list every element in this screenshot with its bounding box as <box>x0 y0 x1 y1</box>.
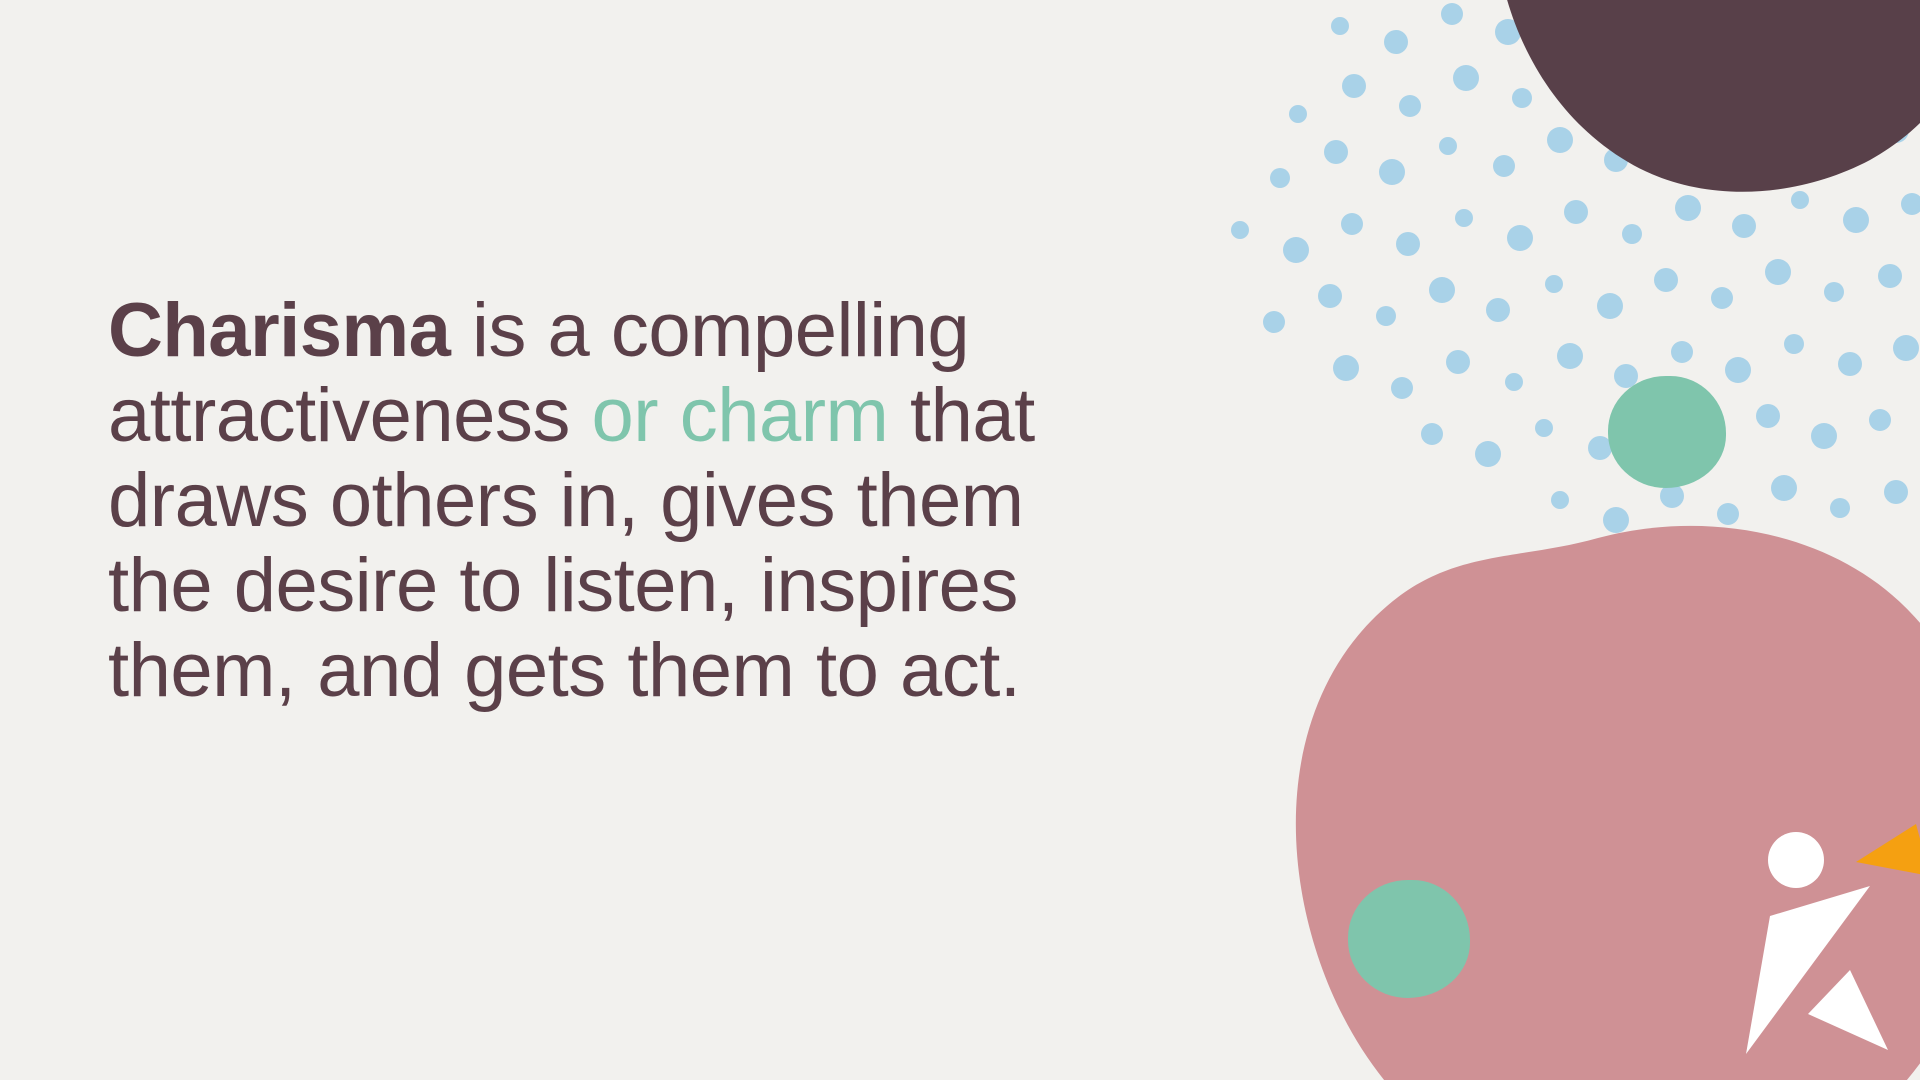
walking-figure-logo-icon <box>1718 818 1920 1080</box>
mint-circle-lower <box>1348 880 1470 998</box>
quote-line-1: Charisma is a compelling <box>108 288 1168 373</box>
quote-line-2: attractiveness or charm that <box>108 373 1168 458</box>
quote-line-3: draws others in, gives them <box>108 458 1168 543</box>
quote-line-5: them, and gets them to act. <box>108 628 1168 713</box>
quote-lead-word: Charisma <box>108 288 450 373</box>
slide-canvas: Charisma is a compelling attractiveness … <box>0 0 1920 1080</box>
quote-accent-phrase: or charm <box>592 373 889 458</box>
blue-dot-pattern-icon <box>1190 0 1920 580</box>
quote-line-2-after: that <box>888 373 1034 458</box>
dusty-rose-blob-icon <box>1280 520 1920 1080</box>
quote-line-1-rest: is a compelling <box>450 288 969 373</box>
dark-plum-blob-icon <box>1430 0 1920 230</box>
quote-text-block: Charisma is a compelling attractiveness … <box>108 288 1168 713</box>
quote-line-2-before: attractiveness <box>108 373 592 458</box>
quote-line-4: the desire to listen, inspires <box>108 543 1168 628</box>
mint-circle-upper <box>1608 376 1726 488</box>
